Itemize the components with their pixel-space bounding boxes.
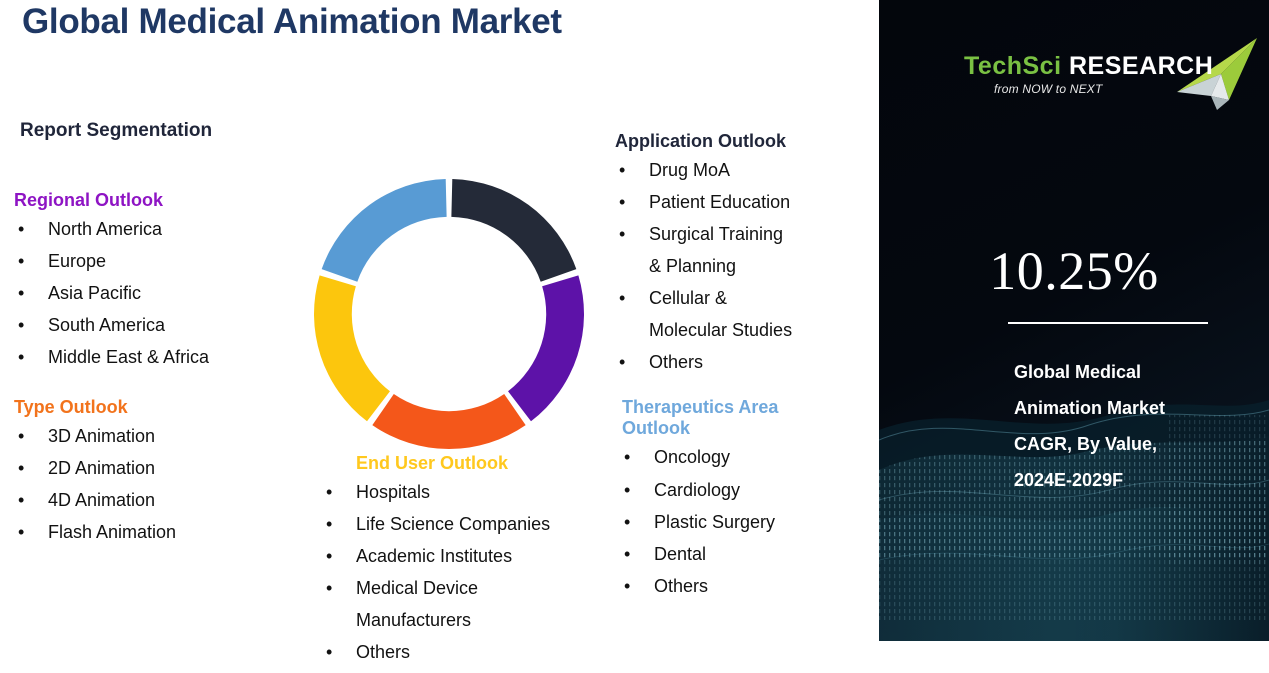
report-segmentation-heading: Report Segmentation: [20, 120, 212, 142]
list-item: •4D Animation: [14, 484, 334, 516]
list-item-label: North America: [48, 219, 162, 239]
bullet-icon: •: [619, 218, 625, 250]
type-outlook-list: •3D Animation •2D Animation •4D Animatio…: [14, 420, 334, 548]
end-user-outlook-list: •Hospitals •Life Science Companies •Acad…: [310, 476, 640, 668]
list-item: •Medical Device Manufacturers: [310, 572, 640, 636]
therapeutics-area-outlook-list: •Oncology •Cardiology •Plastic Surgery •…: [622, 441, 882, 601]
list-item-label: Patient Education: [649, 192, 790, 212]
list-item-label: 2D Animation: [48, 458, 155, 478]
infographic-page: Global Medical Animation Market Report S…: [0, 0, 1269, 673]
list-item-label: Plastic Surgery: [654, 512, 775, 532]
bullet-icon: •: [619, 282, 625, 314]
regional-outlook-heading: Regional Outlook: [14, 190, 334, 211]
donut-segment: [451, 179, 576, 282]
list-item: •Asia Pacific: [14, 277, 334, 309]
list-item-label: Europe: [48, 251, 106, 271]
list-item-label: 4D Animation: [48, 490, 155, 510]
panel-divider: [1008, 322, 1208, 324]
caption-line: Global Medical: [1014, 354, 1269, 390]
list-item-label: Others: [654, 576, 708, 596]
type-outlook-heading: Type Outlook: [14, 397, 334, 418]
list-item: •Others: [615, 346, 885, 378]
donut-segment: [372, 394, 525, 449]
application-outlook-block: Application Outlook •Drug MoA •Patient E…: [615, 131, 885, 378]
caption-line: CAGR, By Value,: [1014, 426, 1269, 462]
list-item-label: Academic Institutes: [356, 546, 512, 566]
list-item-label: 3D Animation: [48, 426, 155, 446]
list-item: •Dental: [622, 538, 882, 570]
list-item: •Middle East & Africa: [14, 341, 334, 373]
list-item-label: Others: [649, 352, 703, 372]
bullet-icon: •: [18, 484, 24, 516]
bullet-icon: •: [619, 154, 625, 186]
list-item: •Oncology: [622, 441, 882, 473]
type-outlook-block: Type Outlook •3D Animation •2D Animation…: [14, 397, 334, 548]
list-item-label: Medical Device Manufacturers: [356, 578, 478, 630]
list-item-label: Oncology: [654, 447, 730, 467]
donut-segment: [314, 275, 390, 421]
logo-wordmark: TechSci RESEARCH: [964, 52, 1213, 81]
list-item-label: Cardiology: [654, 480, 740, 500]
bullet-icon: •: [326, 636, 332, 668]
list-item: •Surgical Training & Planning: [615, 218, 885, 282]
list-item: •2D Animation: [14, 452, 334, 484]
bullet-icon: •: [619, 186, 625, 218]
bullet-icon: •: [18, 341, 24, 373]
list-item-label: Life Science Companies: [356, 514, 550, 534]
list-item-label: Dental: [654, 544, 706, 564]
list-item-label: Drug MoA: [649, 160, 730, 180]
logo-techsci: TechSci: [964, 52, 1062, 80]
segmentation-donut-chart: [310, 175, 588, 453]
bullet-icon: •: [326, 540, 332, 572]
cagr-value: 10.25%: [879, 240, 1269, 302]
application-outlook-heading: Application Outlook: [615, 131, 885, 152]
list-item: •Life Science Companies: [310, 508, 640, 540]
list-item-label: Surgical Training & Planning: [649, 224, 783, 276]
list-item: •Plastic Surgery: [622, 506, 882, 538]
caption-line: 2024E-2029F: [1014, 462, 1269, 498]
list-item: •Others: [310, 636, 640, 668]
list-item-label: Asia Pacific: [48, 283, 141, 303]
list-item: •Academic Institutes: [310, 540, 640, 572]
list-item: •Europe: [14, 245, 334, 277]
bullet-icon: •: [326, 508, 332, 540]
bullet-icon: •: [18, 516, 24, 548]
list-item-label: Hospitals: [356, 482, 430, 502]
list-item: •Patient Education: [615, 186, 885, 218]
logo-research: RESEARCH: [1069, 52, 1213, 80]
bullet-icon: •: [619, 346, 625, 378]
list-item: •Others: [622, 570, 882, 602]
bullet-icon: •: [18, 245, 24, 277]
donut-segment: [508, 275, 584, 421]
logo-tagline: from NOW to NEXT: [994, 82, 1103, 96]
list-item: •Hospitals: [310, 476, 640, 508]
list-item-label: Flash Animation: [48, 522, 176, 542]
techsci-research-logo: TechSci RESEARCH from NOW to NEXT: [879, 42, 1269, 112]
list-item: •Flash Animation: [14, 516, 334, 548]
bullet-icon: •: [18, 213, 24, 245]
list-item-label: Others: [356, 642, 410, 662]
bullet-icon: •: [326, 572, 332, 604]
regional-outlook-block: Regional Outlook •North America •Europe …: [14, 190, 334, 373]
cagr-panel: TechSci RESEARCH from NOW to NEXT 10.25%: [879, 0, 1269, 641]
caption-line: Animation Market: [1014, 390, 1269, 426]
list-item: •Cardiology: [622, 474, 882, 506]
donut-svg: [310, 175, 588, 453]
list-item: •Drug MoA: [615, 154, 885, 186]
regional-outlook-list: •North America •Europe •Asia Pacific •So…: [14, 213, 334, 373]
panel-caption: Global Medical Animation Market CAGR, By…: [1014, 354, 1269, 498]
list-item-label: South America: [48, 315, 165, 335]
application-outlook-list: •Drug MoA •Patient Education •Surgical T…: [615, 154, 885, 378]
list-item: •3D Animation: [14, 420, 334, 452]
bullet-icon: •: [18, 277, 24, 309]
list-item-label: Middle East & Africa: [48, 347, 209, 367]
list-item: •North America: [14, 213, 334, 245]
bullet-icon: •: [18, 452, 24, 484]
therapeutics-area-outlook-block: Therapeutics Area Outlook •Oncology •Car…: [622, 397, 882, 602]
donut-segment: [322, 179, 447, 282]
list-item: •South America: [14, 309, 334, 341]
end-user-outlook-heading: End User Outlook: [310, 453, 640, 474]
page-title: Global Medical Animation Market: [22, 2, 562, 42]
bullet-icon: •: [18, 420, 24, 452]
end-user-outlook-block: End User Outlook •Hospitals •Life Scienc…: [310, 453, 640, 668]
bullet-icon: •: [326, 476, 332, 508]
list-item: •Cellular & Molecular Studies: [615, 282, 885, 346]
therapeutics-area-outlook-heading: Therapeutics Area Outlook: [622, 397, 882, 439]
list-item-label: Cellular & Molecular Studies: [649, 288, 792, 340]
bullet-icon: •: [18, 309, 24, 341]
